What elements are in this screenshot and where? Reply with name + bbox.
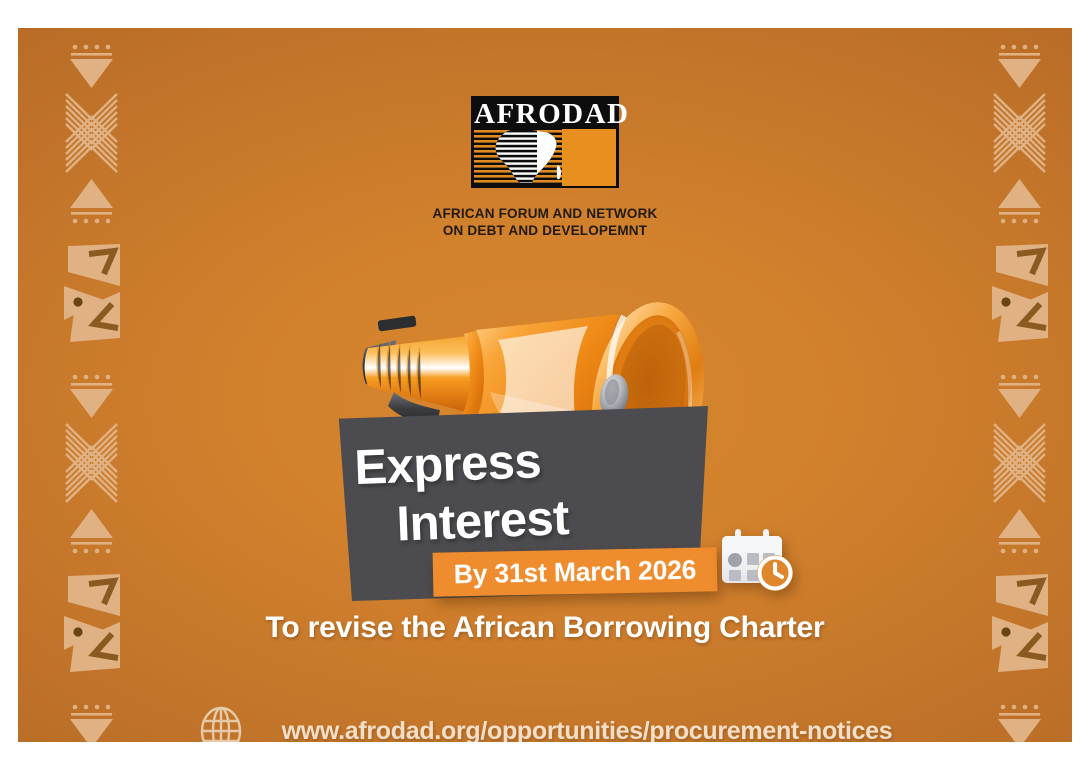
headline-line-1: Express	[354, 433, 542, 496]
afrodad-logo: AFRODAD	[18, 96, 1072, 239]
deadline-label: By 31st March 2026	[433, 547, 718, 596]
logo-mark: AFRODAD	[471, 96, 619, 188]
logo-tagline-line2: ON DEBT AND DEVELOPEMNT	[18, 222, 1072, 239]
logo-wordmark: AFRODAD	[474, 99, 616, 129]
deadline-banner: By 31st March 2026	[433, 547, 718, 596]
globe-icon	[198, 706, 244, 742]
subtitle: To revise the African Borrowing Charter	[18, 611, 1072, 645]
logo-tagline-line1: AFRICAN FORUM AND NETWORK	[18, 205, 1072, 222]
footer: www.afrodad.org/opportunities/procuremen…	[18, 706, 1072, 742]
headline-line-2: Interest	[396, 490, 570, 552]
africa-map-icon	[474, 129, 616, 186]
poster-canvas: AFRODAD	[18, 28, 1072, 742]
logo-tagline: AFRICAN FORUM AND NETWORK ON DEBT AND DE…	[18, 205, 1072, 239]
calendar-clock-icon	[718, 528, 798, 594]
footer-url[interactable]: www.afrodad.org/opportunities/procuremen…	[282, 717, 893, 743]
